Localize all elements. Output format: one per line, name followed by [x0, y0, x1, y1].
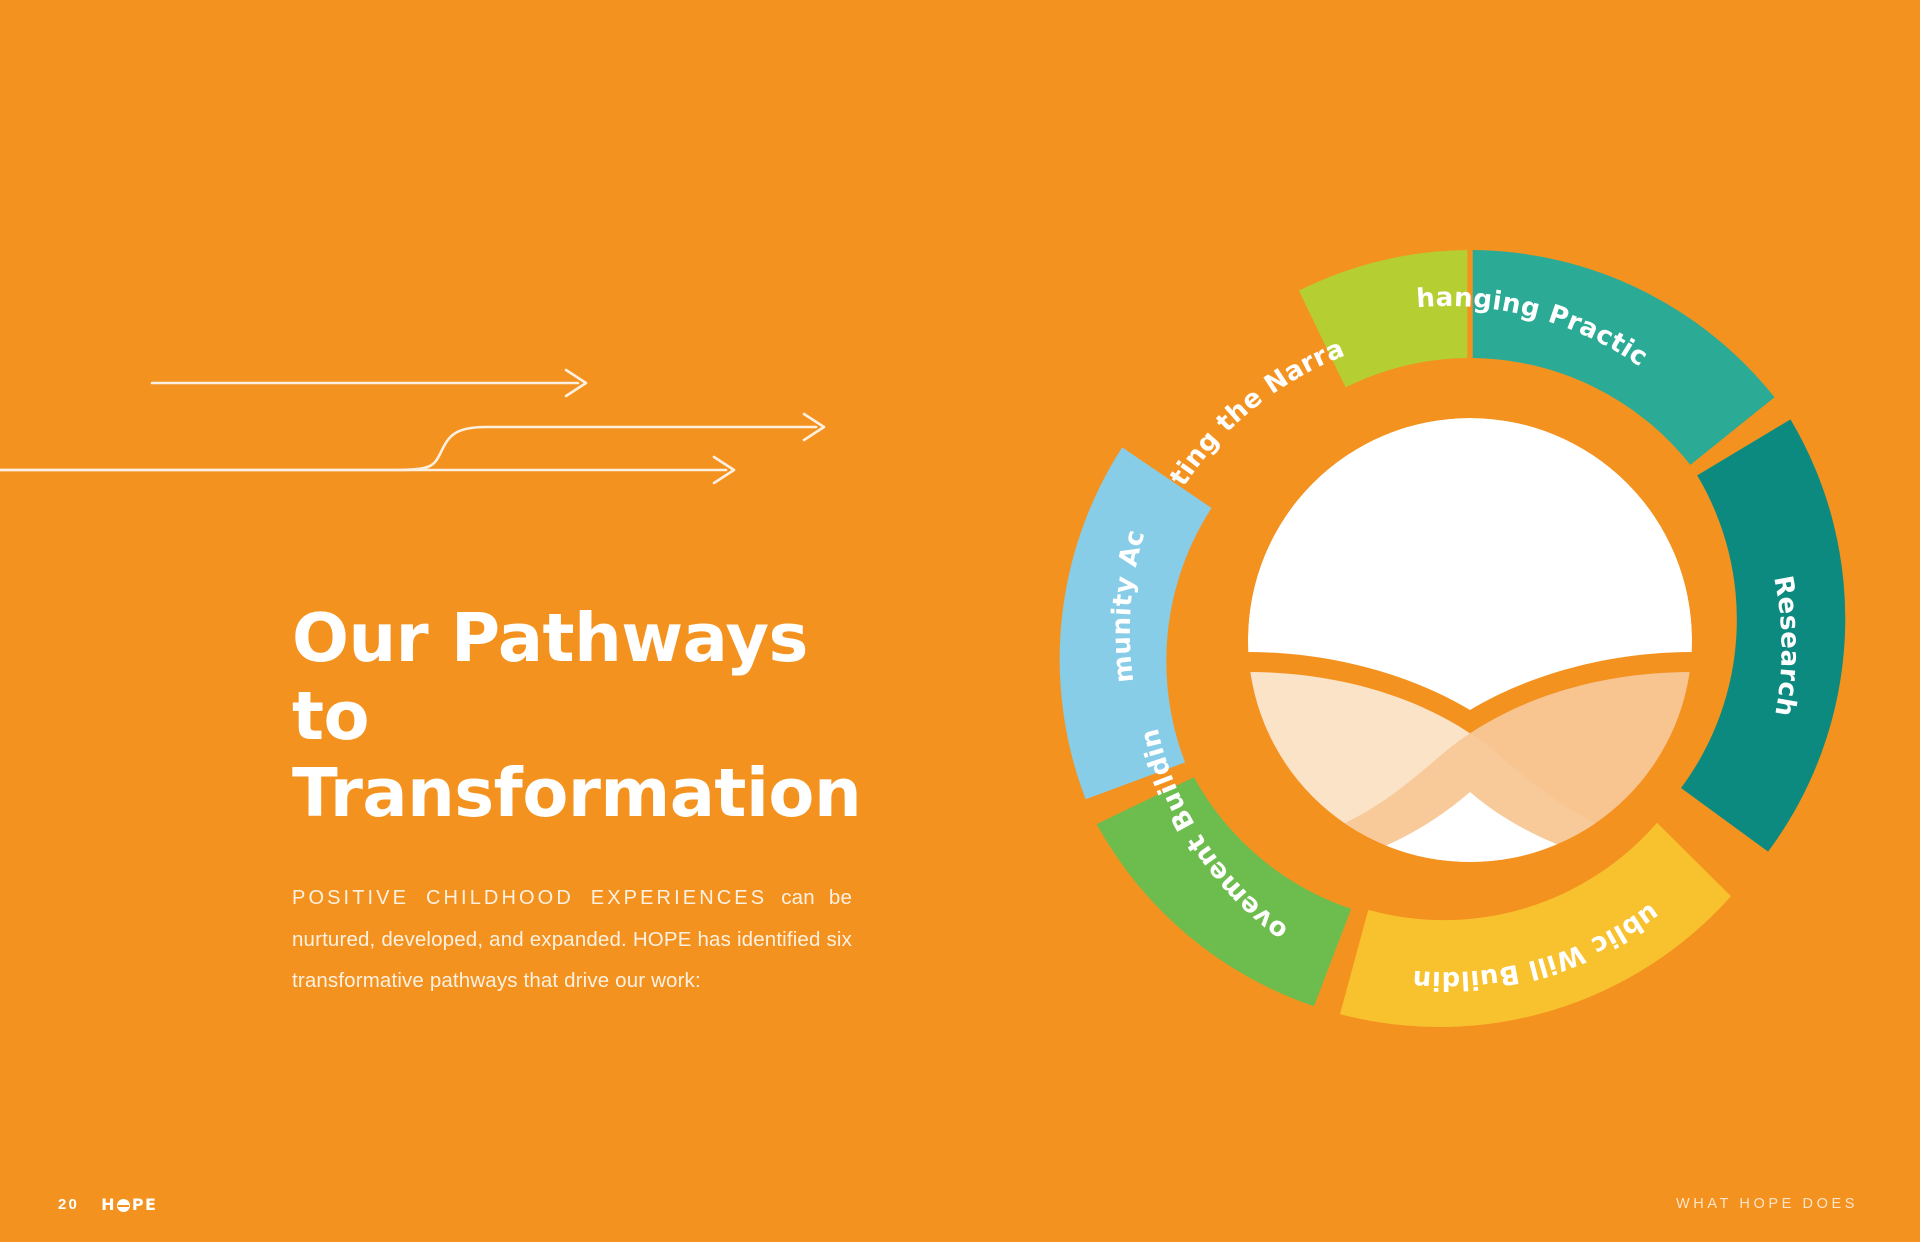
page-title-line-2: Transformation	[292, 755, 852, 833]
footer-left: 20 HPE	[58, 1195, 157, 1214]
segment-public-will-building[interactable]	[1340, 823, 1731, 1027]
arrow-top-icon	[152, 370, 586, 396]
text-block: Our Pathways to Transformation POSITIVE …	[292, 600, 852, 1001]
segment-research[interactable]	[1681, 419, 1845, 851]
brand-text-after: PE	[132, 1195, 157, 1214]
hope-sunrise-mark	[1248, 418, 1692, 874]
page-number: 20	[58, 1196, 79, 1213]
segment-label-shifting-the-narrative: Shifting the Narrative	[1010, 180, 1349, 491]
hope-circle-icon	[117, 1199, 130, 1212]
intro-paragraph: POSITIVE CHILDHOOD EXPERIENCES can be nu…	[292, 877, 852, 1001]
page-title: Our Pathways to Transformation	[292, 600, 852, 833]
decorative-arrows	[0, 330, 900, 530]
arrow-curved-middle-icon	[0, 414, 824, 470]
arrow-bottom-icon	[0, 457, 734, 483]
slide-canvas: Our Pathways to Transformation POSITIVE …	[0, 0, 1920, 1242]
intro-lead: POSITIVE CHILDHOOD EXPERIENCES	[292, 887, 767, 909]
footer-section-label: WHAT HOPE DOES	[1676, 1196, 1858, 1212]
brand-text-before: H	[101, 1195, 116, 1214]
sunrise-dome	[1248, 418, 1692, 710]
page-title-line-1: Our Pathways to	[292, 599, 808, 755]
footer: 20 HPE WHAT HOPE DOES	[0, 1152, 1920, 1242]
pathways-wheel: Shifting the Narrative Changing Practice…	[1010, 180, 1920, 1100]
hope-logo: HPE	[101, 1195, 157, 1214]
